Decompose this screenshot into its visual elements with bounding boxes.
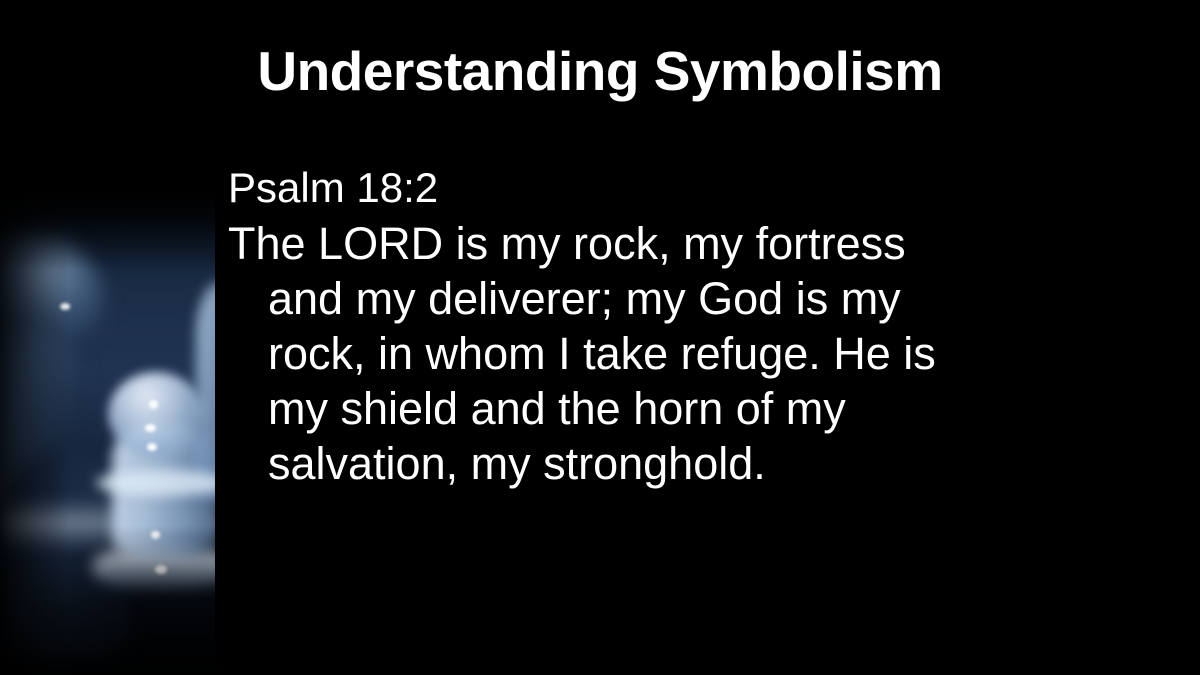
specular-highlight [147,443,157,451]
verse-line-3: rock, in whom I take refuge. He is [228,326,1158,381]
specular-highlight [149,400,158,409]
presentation-slide: Understanding Symbolism Psalm 18:2 The L… [0,0,1200,675]
chess-pawn-collar [96,470,220,496]
verse-line-1: The LORD is my rock, my fortress [228,216,1158,271]
verse-line-2: and my deliverer; my God is my [228,271,1158,326]
verse-line-5: salvation, my stronghold. [228,436,1158,491]
verse-line-4: my shield and the horn of my [228,381,1158,436]
scripture-reference: Psalm 18:2 [228,160,1158,216]
chess-pawn-head [108,372,204,456]
specular-highlight [145,424,156,432]
slide-body: Psalm 18:2 The LORD is my rock, my fortr… [228,160,1158,491]
slide-title: Understanding Symbolism [0,40,1200,102]
